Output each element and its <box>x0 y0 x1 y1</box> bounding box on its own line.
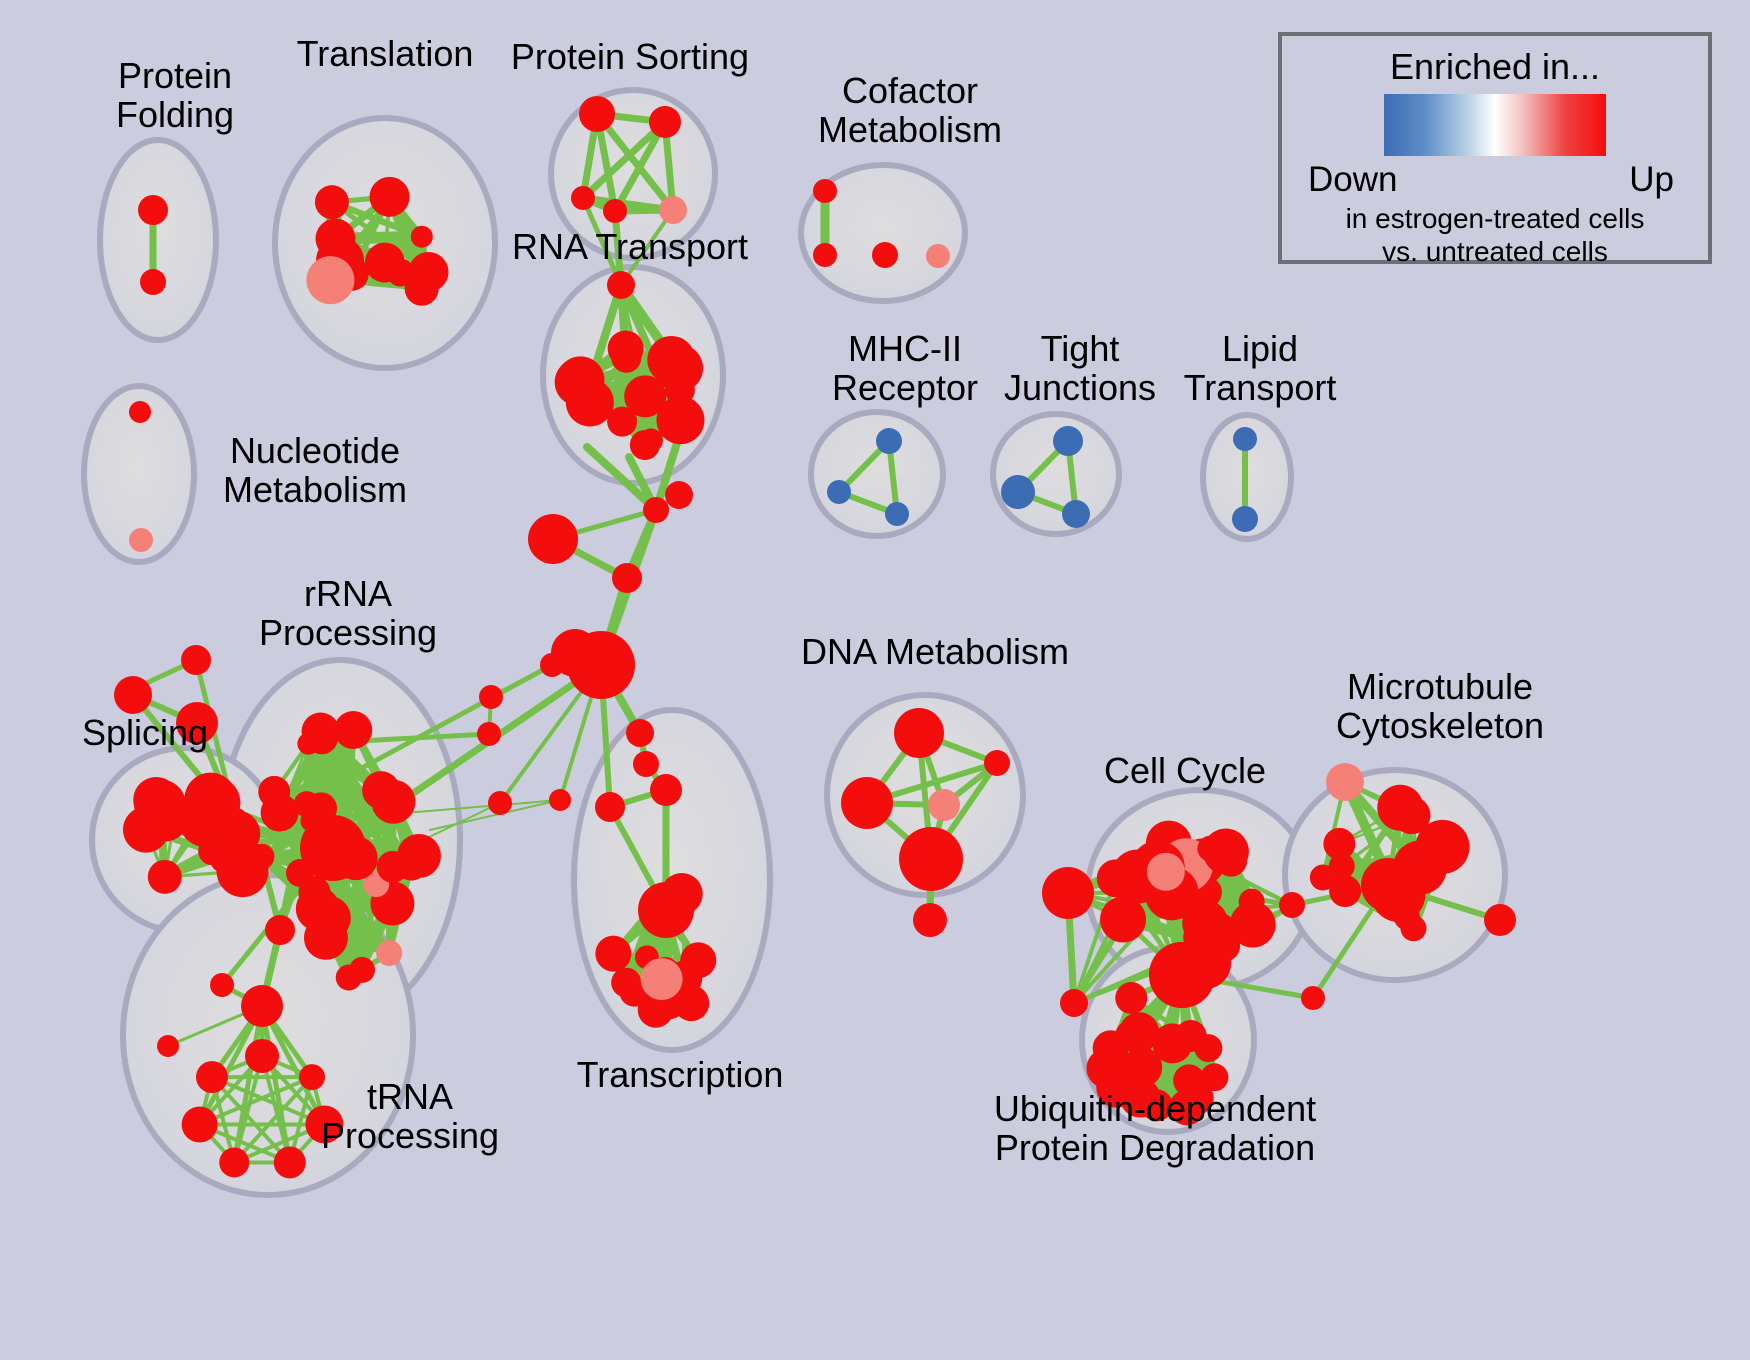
network-node <box>245 1039 279 1073</box>
network-node <box>1062 500 1090 528</box>
network-node <box>224 808 248 832</box>
network-node <box>1377 785 1423 831</box>
network-node <box>1175 1020 1207 1052</box>
network-node <box>148 860 182 894</box>
network-node <box>813 179 837 203</box>
network-node <box>680 942 716 978</box>
network-node <box>315 185 349 219</box>
network-node <box>248 844 274 870</box>
network-node <box>196 1061 228 1093</box>
network-node <box>872 242 898 268</box>
network-node <box>647 336 695 384</box>
network-node <box>1301 986 1325 1010</box>
legend-colorbar <box>1384 94 1606 156</box>
network-node <box>1279 892 1305 918</box>
network-node <box>176 702 218 744</box>
network-node <box>567 631 635 699</box>
network-node <box>639 428 663 452</box>
network-node <box>603 199 627 223</box>
network-node <box>913 903 947 937</box>
network-node <box>1182 1082 1214 1114</box>
network-node <box>377 851 409 883</box>
network-node <box>181 645 211 675</box>
network-node <box>157 1035 179 1057</box>
network-node <box>1361 858 1415 912</box>
network-node <box>633 751 659 777</box>
network-node <box>296 887 340 931</box>
legend-box: Enriched in... Down Up in estrogen-treat… <box>1278 32 1712 264</box>
network-node <box>1097 859 1135 897</box>
network-node <box>129 528 153 552</box>
legend-up-label: Up <box>1629 160 1674 200</box>
network-node <box>1001 475 1035 509</box>
network-node <box>549 789 571 811</box>
network-node <box>371 780 415 824</box>
network-node <box>612 563 642 593</box>
network-node <box>650 774 682 806</box>
network-node <box>182 1106 218 1142</box>
network-node <box>294 791 320 817</box>
network-node <box>411 226 433 248</box>
network-node <box>607 271 635 299</box>
network-node <box>1042 867 1094 919</box>
network-node <box>1233 427 1257 451</box>
network-node <box>656 396 704 444</box>
network-node <box>1232 506 1258 532</box>
network-node <box>528 514 578 564</box>
network-node <box>265 915 295 945</box>
network-node <box>1239 889 1265 915</box>
network-node <box>926 244 950 268</box>
legend-sublabel: in estrogen-treated cells vs. untreated … <box>1282 202 1708 268</box>
network-node <box>649 106 681 138</box>
network-node <box>405 272 439 306</box>
network-node <box>841 777 893 829</box>
network-node <box>258 776 290 808</box>
network-node <box>595 936 631 972</box>
network-node <box>643 497 669 523</box>
network-node <box>241 985 283 1027</box>
network-node <box>813 243 837 267</box>
network-node <box>1122 1047 1162 1087</box>
network-node <box>899 827 963 891</box>
network-node <box>611 968 641 998</box>
network-node <box>885 502 909 526</box>
network-node <box>1179 937 1231 989</box>
network-node <box>1060 989 1088 1017</box>
network-node <box>140 269 166 295</box>
network-node <box>305 1105 343 1143</box>
network-node <box>626 719 654 747</box>
network-node <box>198 837 226 865</box>
network-node <box>299 1064 325 1090</box>
network-node <box>659 196 687 224</box>
network-node <box>219 1147 249 1177</box>
network-node <box>1310 865 1336 891</box>
network-node <box>557 356 605 404</box>
network-node <box>488 791 512 815</box>
network-node <box>334 711 372 749</box>
network-node <box>595 792 625 822</box>
network-node <box>827 480 851 504</box>
network-node <box>477 722 501 746</box>
network-node <box>894 708 944 758</box>
network-node <box>114 676 152 714</box>
network-node <box>365 243 405 283</box>
network-node <box>1197 836 1223 862</box>
network-node <box>876 428 902 454</box>
network-node <box>210 973 234 997</box>
network-node <box>1484 904 1516 936</box>
network-node <box>665 481 693 509</box>
network-node <box>641 958 683 1000</box>
network-node <box>1115 982 1147 1014</box>
cluster-ellipse-mhc-ii-receptor <box>811 412 943 536</box>
network-node <box>928 789 960 821</box>
legend-title: Enriched in... <box>1282 46 1708 88</box>
network-node <box>349 957 375 983</box>
network-node <box>571 186 595 210</box>
network-node <box>376 940 402 966</box>
network-figure: Protein FoldingTranslationProtein Sortin… <box>0 0 1750 1360</box>
network-node <box>1147 853 1185 891</box>
network-node <box>984 750 1010 776</box>
network-node <box>638 882 694 938</box>
network-node <box>274 1146 306 1178</box>
network-node <box>138 195 168 225</box>
network-node <box>306 256 354 304</box>
network-node <box>1326 763 1364 801</box>
cluster-ellipse-protein-folding <box>100 140 216 340</box>
network-node <box>286 859 314 887</box>
network-node <box>611 343 641 373</box>
network-node <box>306 722 338 754</box>
network-node <box>579 96 615 132</box>
network-node <box>479 685 503 709</box>
network-node <box>134 779 186 831</box>
network-node <box>1053 426 1083 456</box>
network-node <box>370 177 410 217</box>
legend-down-label: Down <box>1308 160 1397 200</box>
network-node <box>129 401 151 423</box>
